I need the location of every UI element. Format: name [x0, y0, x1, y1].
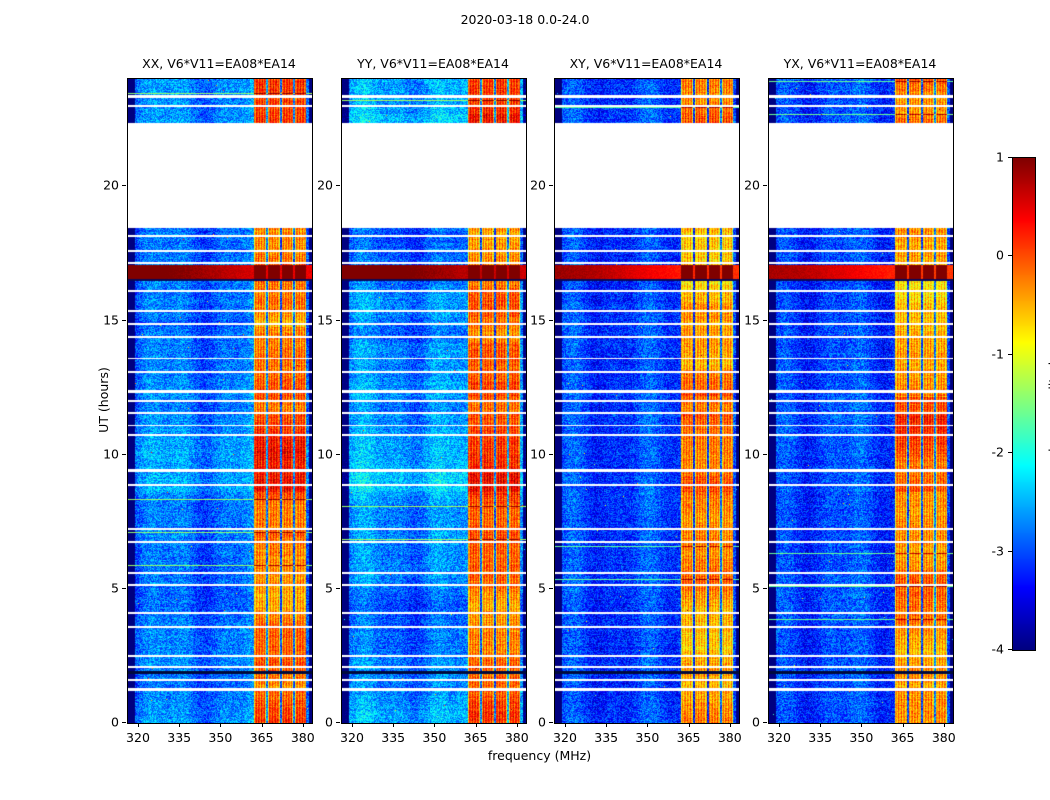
- colorbar-tickmark: [1008, 157, 1012, 158]
- x-tickmark: [820, 723, 821, 727]
- y-tick-label: 5: [85, 580, 119, 595]
- x-tickmark: [352, 723, 353, 727]
- y-tickmark: [336, 320, 340, 321]
- y-tickmark: [122, 320, 126, 321]
- x-axis-label: frequency (MHz): [127, 748, 952, 763]
- y-tickmark: [763, 722, 767, 723]
- y-tickmark: [336, 722, 340, 723]
- x-tickmark: [779, 723, 780, 727]
- y-tickmark: [122, 454, 126, 455]
- x-tick-label: 350: [849, 730, 873, 745]
- x-tickmark: [861, 723, 862, 727]
- y-tickmark: [763, 454, 767, 455]
- colorbar-tickmark: [1008, 551, 1012, 552]
- y-tickmark: [122, 185, 126, 186]
- x-tickmark: [220, 723, 221, 727]
- y-tick-label: 0: [85, 715, 119, 730]
- y-tickmark: [763, 320, 767, 321]
- x-tick-label: 335: [808, 730, 832, 745]
- spectrogram-image-yx: [769, 79, 953, 723]
- colorbar-tick-label: -4: [970, 642, 1004, 657]
- y-tick-label: 15: [299, 312, 333, 327]
- y-tickmark: [549, 454, 553, 455]
- x-tickmark: [606, 723, 607, 727]
- x-tick-label: 365: [464, 730, 488, 745]
- x-tick-label: 380: [932, 730, 956, 745]
- colorbar-tick-label: -1: [970, 346, 1004, 361]
- y-tick-label: 5: [512, 580, 546, 595]
- spectrogram-panel-yx[interactable]: [768, 78, 954, 724]
- y-tick-label: 10: [85, 446, 119, 461]
- colorbar-tickmark: [1008, 255, 1012, 256]
- colorbar: [1012, 157, 1036, 651]
- colorbar-tick-label: -2: [970, 445, 1004, 460]
- y-tickmark: [549, 588, 553, 589]
- y-tickmark: [122, 588, 126, 589]
- x-tick-label: 320: [340, 730, 364, 745]
- y-tick-label: 20: [512, 178, 546, 193]
- colorbar-label-suffix: amplitude: [1046, 354, 1050, 421]
- x-tickmark: [565, 723, 566, 727]
- x-tickmark: [262, 723, 263, 727]
- x-tick-label: 380: [291, 730, 315, 745]
- figure-suptitle: 2020-03-18 0.0-24.0: [0, 12, 1050, 27]
- x-tick-label: 335: [167, 730, 191, 745]
- y-tickmark: [549, 722, 553, 723]
- x-tickmark: [179, 723, 180, 727]
- y-tickmark: [336, 185, 340, 186]
- x-tick-label: 365: [891, 730, 915, 745]
- y-tick-label: 20: [299, 178, 333, 193]
- x-tick-label: 380: [505, 730, 529, 745]
- colorbar-tick-label: 0: [970, 248, 1004, 263]
- x-tick-label: 335: [381, 730, 405, 745]
- x-tickmark: [944, 723, 945, 727]
- x-tick-label: 320: [126, 730, 150, 745]
- x-tick-label: 365: [250, 730, 274, 745]
- x-tick-label: 335: [594, 730, 618, 745]
- y-tick-label: 0: [726, 715, 760, 730]
- y-axis-label: UT (hours): [96, 367, 111, 433]
- y-tick-label: 10: [512, 446, 546, 461]
- colorbar-label: log10 amplitude: [1046, 354, 1050, 452]
- spectrogram-panel-xy[interactable]: [554, 78, 740, 724]
- y-tickmark: [122, 722, 126, 723]
- y-tick-label: 10: [299, 446, 333, 461]
- x-tickmark: [647, 723, 648, 727]
- x-tick-label: 380: [718, 730, 742, 745]
- panel-title-yx: YX, V6*V11=EA08*EA14: [708, 56, 1012, 71]
- y-tick-label: 5: [299, 580, 333, 595]
- y-tickmark: [336, 588, 340, 589]
- y-tick-label: 20: [726, 178, 760, 193]
- y-tickmark: [763, 588, 767, 589]
- colorbar-tickmark: [1008, 354, 1012, 355]
- y-tick-label: 5: [726, 580, 760, 595]
- y-tick-label: 15: [726, 312, 760, 327]
- colorbar-tick-label: 1: [970, 150, 1004, 165]
- spectrogram-image-xy: [555, 79, 739, 723]
- colorbar-tickmark: [1008, 452, 1012, 453]
- y-tick-label: 0: [512, 715, 546, 730]
- spectrogram-image-yy: [342, 79, 526, 723]
- x-tickmark: [903, 723, 904, 727]
- x-tickmark: [393, 723, 394, 727]
- spectrogram-panel-yy[interactable]: [341, 78, 527, 724]
- spectrogram-panel-xx[interactable]: [127, 78, 313, 724]
- y-tickmark: [336, 454, 340, 455]
- x-tickmark: [689, 723, 690, 727]
- y-tick-label: 15: [512, 312, 546, 327]
- y-tick-label: 20: [85, 178, 119, 193]
- x-tickmark: [434, 723, 435, 727]
- y-tickmark: [763, 185, 767, 186]
- x-tick-label: 350: [208, 730, 232, 745]
- colorbar-gradient: [1013, 158, 1035, 650]
- y-tickmark: [549, 320, 553, 321]
- y-tickmark: [549, 185, 553, 186]
- x-tick-label: 320: [553, 730, 577, 745]
- y-tick-label: 0: [299, 715, 333, 730]
- y-tick-label: 15: [85, 312, 119, 327]
- y-tick-label: 10: [726, 446, 760, 461]
- figure-canvas: 2020-03-18 0.0-24.0 XX, V6*V11=EA08*EA14…: [0, 0, 1050, 800]
- x-tick-label: 350: [635, 730, 659, 745]
- spectrogram-image-xx: [128, 79, 312, 723]
- colorbar-tick-label: -3: [970, 543, 1004, 558]
- x-tick-label: 350: [422, 730, 446, 745]
- x-tickmark: [138, 723, 139, 727]
- colorbar-label-prefix: log: [1046, 433, 1050, 452]
- x-tickmark: [476, 723, 477, 727]
- colorbar-tickmark: [1008, 649, 1012, 650]
- x-tick-label: 320: [767, 730, 791, 745]
- x-tick-label: 365: [677, 730, 701, 745]
